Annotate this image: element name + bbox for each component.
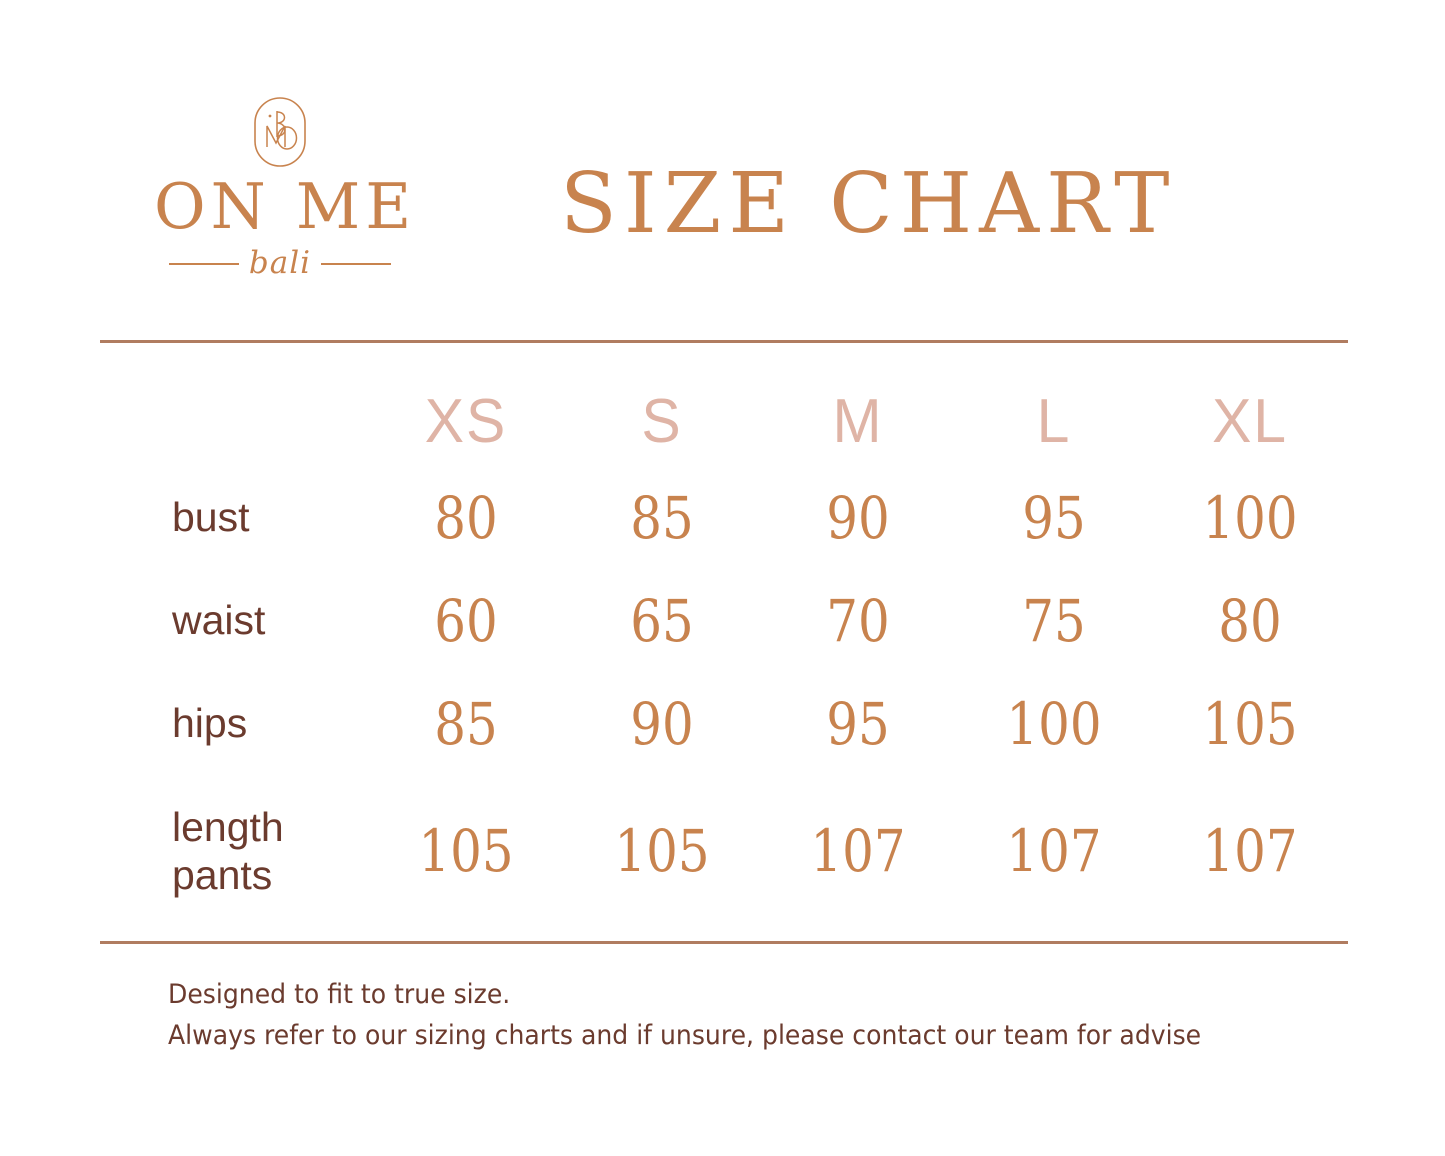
table-row: length pants 105 105 107 107 107 — [100, 775, 1348, 927]
divider-top — [100, 340, 1348, 343]
table-row: hips 85 90 95 100 105 — [100, 672, 1348, 775]
tagline-rule-right — [321, 263, 391, 265]
cell-lengthpants-l: 107 — [970, 822, 1139, 880]
cell-bust-l: 95 — [970, 489, 1139, 547]
cell-waist-s: 65 — [578, 592, 747, 650]
cell-hips-xs: 85 — [382, 695, 551, 753]
cell-bust-m: 90 — [774, 489, 943, 547]
brand-tagline: bali — [249, 248, 311, 279]
tagline-rule-left — [169, 263, 239, 265]
cell-lengthpants-m: 107 — [774, 822, 943, 880]
cell-lengthpants-xl: 107 — [1166, 822, 1335, 880]
table-header-row: XS S M L XL — [100, 378, 1348, 466]
footer-line-1: Designed to fit to true size. — [168, 975, 1201, 1016]
cell-waist-m: 70 — [774, 592, 943, 650]
cell-hips-l: 100 — [970, 695, 1139, 753]
cell-bust-s: 85 — [578, 489, 747, 547]
table-row: bust 80 85 90 95 100 — [100, 466, 1348, 569]
footer-note: Designed to fit to true size. Always ref… — [168, 975, 1201, 1056]
cell-bust-xl: 100 — [1166, 489, 1335, 547]
brand-wordmark: ON ME — [154, 175, 410, 238]
cell-bust-xs: 80 — [382, 489, 551, 547]
cell-hips-s: 90 — [578, 695, 747, 753]
row-label-length-pants-line2: pants — [172, 851, 368, 899]
table-row: waist 60 65 70 75 80 — [100, 569, 1348, 672]
cell-hips-xl: 105 — [1166, 695, 1335, 753]
size-table: XS S M L XL bust 80 85 90 95 100 waist 6… — [100, 378, 1348, 927]
cell-waist-xs: 60 — [382, 592, 551, 650]
column-header-m: M — [765, 391, 951, 453]
cell-hips-m: 95 — [774, 695, 943, 753]
cell-waist-xl: 80 — [1166, 592, 1335, 650]
onme-monogram-icon — [249, 95, 311, 169]
row-label-length-pants: length pants — [100, 803, 368, 900]
row-label-bust: bust — [100, 493, 368, 541]
row-label-waist: waist — [100, 596, 368, 644]
footer-line-2: Always refer to our sizing charts and if… — [168, 1016, 1201, 1057]
brand-logo: ON ME bali — [150, 95, 410, 279]
brand-tagline-row: bali — [150, 248, 410, 279]
page-title: SIZE CHART — [560, 158, 1177, 249]
column-header-xs: XS — [373, 391, 559, 453]
column-header-l: L — [961, 391, 1147, 453]
column-header-xl: XL — [1157, 391, 1343, 453]
size-chart-page: ON ME bali SIZE CHART XS S M L XL bust 8… — [0, 0, 1445, 1156]
cell-lengthpants-xs: 105 — [382, 822, 551, 880]
column-header-s: S — [569, 391, 755, 453]
row-label-length-pants-line1: length — [172, 803, 368, 851]
cell-waist-l: 75 — [970, 592, 1139, 650]
cell-lengthpants-s: 105 — [578, 822, 747, 880]
divider-bottom — [100, 941, 1348, 944]
row-label-hips: hips — [100, 699, 368, 747]
